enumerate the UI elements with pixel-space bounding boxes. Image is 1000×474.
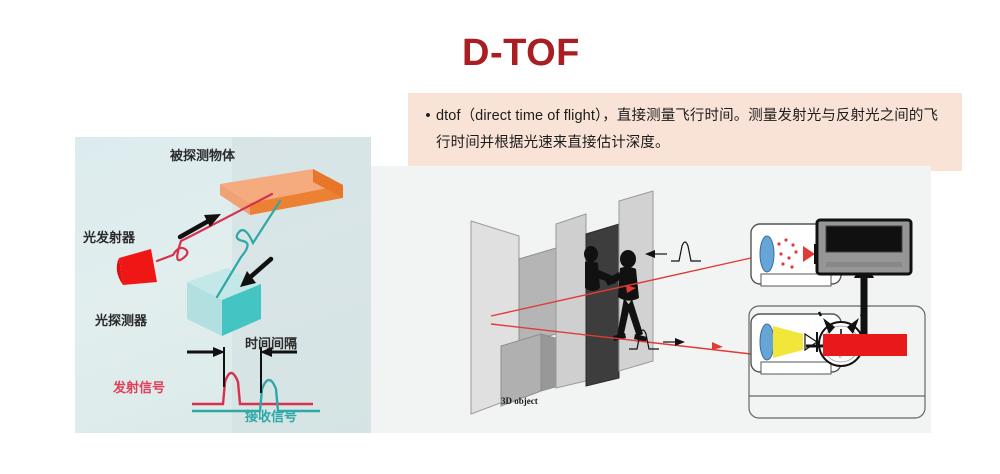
left-illustration: 被探测物体 光发射器 光探测器 时间间隔 发射信号 接收信号 (75, 137, 371, 433)
label-3d-object: 3D object (501, 396, 538, 406)
arrow-up-right-icon (180, 214, 221, 237)
label-transmit-signal: 发射信号 (113, 377, 165, 396)
target-object-icon (220, 169, 343, 215)
bullet-text: dtof（direct time of flight），直接测量飞行时间。测量发… (436, 103, 946, 157)
right-illustration: 12 6 (371, 166, 931, 433)
label-time-interval: 时间间隔 (245, 333, 297, 352)
distance-display-icon (817, 220, 911, 274)
arrow-down-left-icon (240, 259, 271, 287)
label-target-object: 被探测物体 (170, 145, 235, 164)
label-light-emitter: 光发射器 (83, 227, 135, 246)
body-callout: • dtof（direct time of flight），直接测量飞行时间。测… (408, 93, 962, 171)
light-emitter-icon (117, 249, 157, 285)
label-light-detector: 光探测器 (95, 310, 147, 329)
label-receive-signal: 接收信号 (245, 406, 297, 425)
bullet-list-item: • dtof（direct time of flight），直接测量飞行时间。测… (420, 103, 946, 157)
page-title: D-TOF (462, 34, 580, 72)
right-figure-graphics: 12 6 (371, 166, 931, 433)
bullet-dot-icon: • (420, 103, 436, 129)
